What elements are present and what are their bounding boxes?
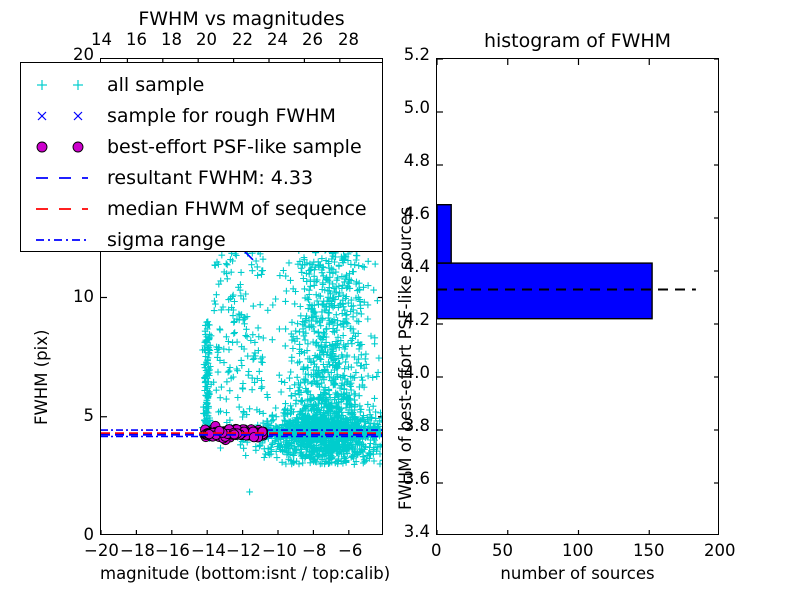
top-tick-label: 28 bbox=[338, 30, 359, 49]
matplotlib-figure: FWHM vs magnitudes 14 16 18 20 22 24 26 … bbox=[0, 0, 800, 600]
top-tick-label: 16 bbox=[126, 30, 147, 49]
bottom-tick-label: −16 bbox=[155, 541, 190, 560]
top-tick-label: 20 bbox=[196, 30, 217, 49]
bottom-axis-ticks bbox=[101, 530, 349, 535]
left-panel-xlabel: magnitude (bottom:isnt / top:calib) bbox=[100, 564, 383, 583]
right-panel-xlabel: number of sources bbox=[436, 564, 719, 583]
bottom-tick-label: −14 bbox=[191, 541, 226, 560]
y-tick-label: 5.0 bbox=[404, 98, 430, 117]
legend-item-label: median FHWM of sequence bbox=[107, 198, 367, 220]
histogram-bar[interactable] bbox=[437, 263, 652, 319]
right-panel-axes[interactable] bbox=[436, 58, 719, 535]
x-tick-label: 150 bbox=[633, 541, 665, 560]
bottom-tick-label: −18 bbox=[120, 541, 155, 560]
left-panel-top-ticklabels: 14 16 18 20 22 24 26 28 bbox=[100, 30, 383, 52]
histogram-bars[interactable] bbox=[437, 205, 652, 319]
y-tick-label: 4.0 bbox=[404, 363, 430, 382]
legend-marker-circle-icon bbox=[29, 134, 101, 160]
legend-item-label: sample for rough FWHM bbox=[107, 105, 336, 127]
right-panel-y-ticklabels: 5.2 5.0 4.8 4.6 4.4 4.2 4.0 3.8 3.6 3.4 bbox=[396, 0, 436, 600]
bottom-tick-label: −12 bbox=[226, 541, 261, 560]
x-tick-label: 100 bbox=[562, 541, 594, 560]
y-tick-label: 5.2 bbox=[404, 45, 430, 64]
y-tick-label: 4.2 bbox=[404, 310, 430, 329]
legend-line-dashed-red-icon bbox=[29, 196, 101, 222]
y-tick-label: 3.6 bbox=[404, 469, 430, 488]
legend-item-label: all sample bbox=[107, 74, 204, 96]
left-panel-title: FWHM vs magnitudes bbox=[100, 8, 383, 30]
legend-item-label: resultant FWHM: 4.33 bbox=[107, 167, 313, 189]
top-tick-label: 18 bbox=[161, 30, 182, 49]
x-tick-label: 200 bbox=[704, 541, 736, 560]
right-panel-title: histogram of FWHM bbox=[436, 30, 719, 52]
legend-item[interactable]: sample for rough FWHM bbox=[29, 100, 374, 131]
y-tick-label: 10 bbox=[73, 287, 94, 306]
legend-item[interactable]: resultant FWHM: 4.33 bbox=[29, 162, 374, 193]
legend-item[interactable]: best-effort PSF-like sample bbox=[29, 131, 374, 162]
right-panel-x-ticklabels: 0 50 100 150 200 bbox=[436, 541, 719, 563]
y-tick-label: 3.8 bbox=[404, 416, 430, 435]
legend-line-dashed-blue-icon bbox=[29, 165, 101, 191]
legend-line-dashdot-blue-icon bbox=[29, 227, 101, 253]
left-panel-ylabel: FWHM (pix) bbox=[32, 330, 51, 425]
top-tick-label: 24 bbox=[267, 30, 288, 49]
legend-marker-cross-icon bbox=[29, 103, 101, 129]
legend-item-label: best-effort PSF-like sample bbox=[107, 136, 362, 158]
top-tick-label: 26 bbox=[302, 30, 323, 49]
bottom-tick-label: −20 bbox=[84, 541, 119, 560]
y-tick-label: 4.4 bbox=[404, 257, 430, 276]
bottom-tick-label: −10 bbox=[262, 541, 297, 560]
histogram-bar[interactable] bbox=[437, 205, 451, 263]
y-tick-label: 3.4 bbox=[404, 522, 430, 541]
bottom-tick-label: −6 bbox=[338, 541, 362, 560]
legend-item[interactable]: median FHWM of sequence bbox=[29, 193, 374, 224]
legend-item-label: sigma range bbox=[107, 229, 226, 251]
x-tick-label: 0 bbox=[431, 541, 442, 560]
y-tick-label: 4.6 bbox=[404, 204, 430, 223]
plot-legend[interactable]: all sample sample for rough FWHM bbox=[20, 62, 383, 252]
bottom-tick-label: −8 bbox=[302, 541, 326, 560]
legend-marker-plus-icon bbox=[29, 72, 101, 98]
legend-item[interactable]: sigma range bbox=[29, 224, 374, 255]
left-panel-bottom-ticklabels: −20 −18 −16 −14 −12 −10 −8 −6 bbox=[100, 541, 383, 563]
y-tick-label: 4.8 bbox=[404, 151, 430, 170]
y-tick-label: 5 bbox=[84, 406, 95, 425]
x-tick-label: 50 bbox=[492, 541, 513, 560]
legend-item[interactable]: all sample bbox=[29, 69, 374, 100]
top-tick-label: 22 bbox=[232, 30, 253, 49]
right-panel-plot-area bbox=[437, 59, 719, 535]
